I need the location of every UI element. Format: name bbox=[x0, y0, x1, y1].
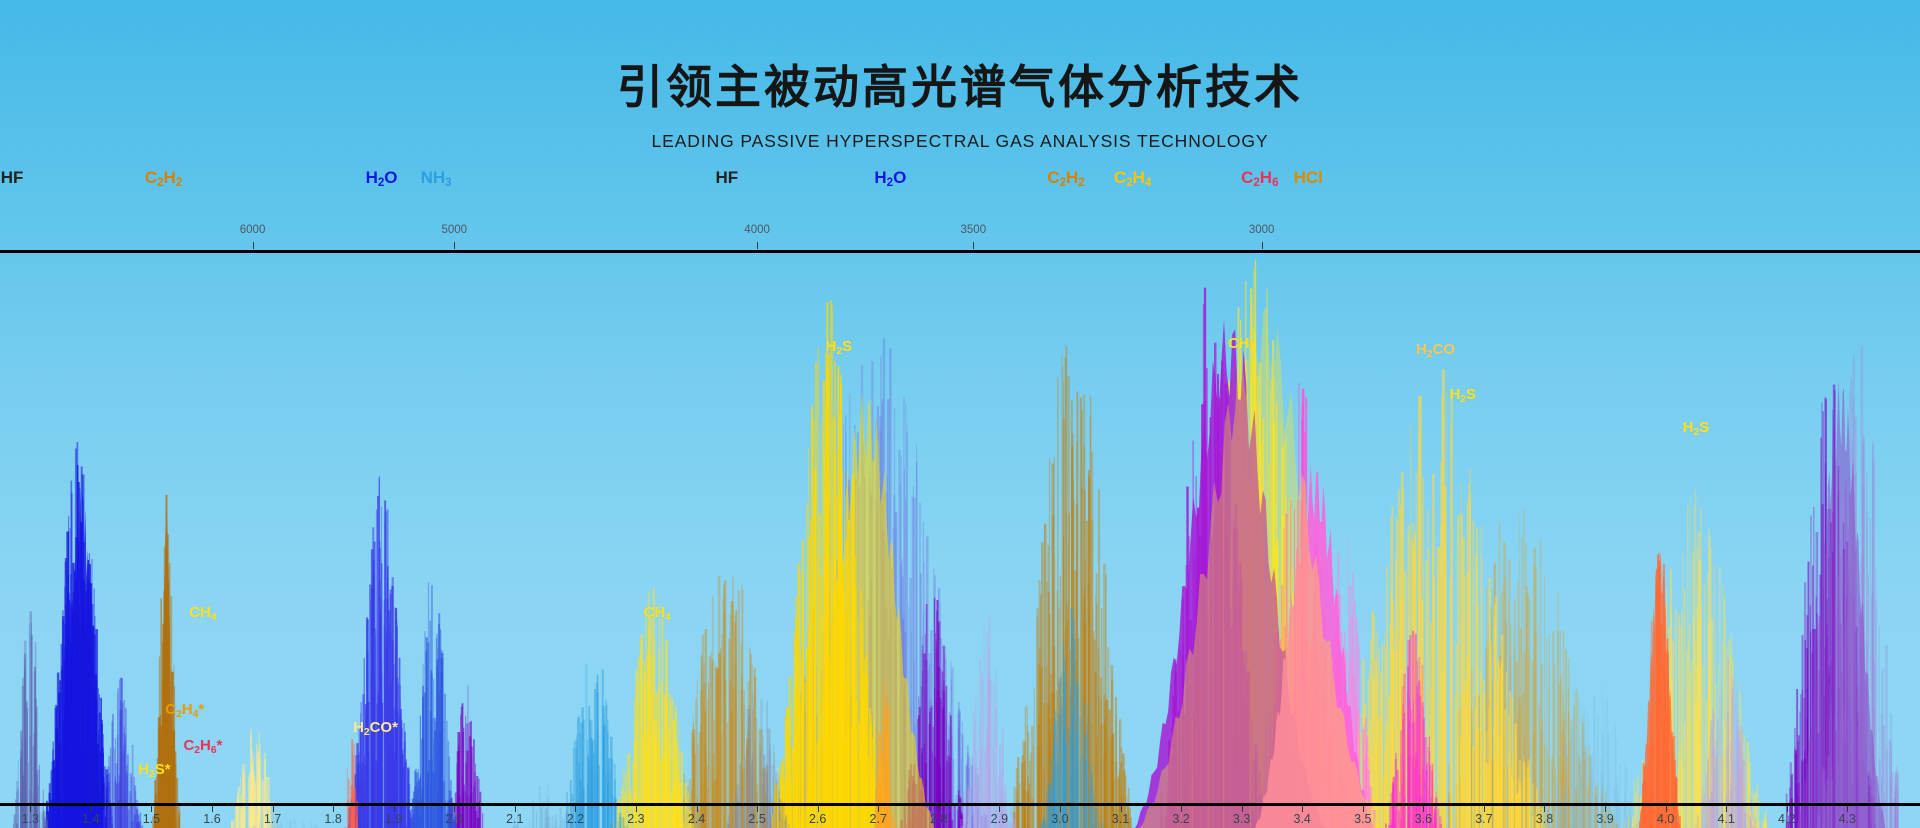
spectra-chart: 60005000400035003000HFC2H2H2ONH3HFH2OC2H… bbox=[0, 198, 1920, 828]
plot-gas-label-h2s: H2S bbox=[1683, 419, 1710, 436]
top-tick-label: 3500 bbox=[961, 224, 987, 236]
top-tick-mark bbox=[757, 242, 758, 249]
top-tick-label: 5000 bbox=[441, 224, 467, 236]
bottom-tick-label: 4.1 bbox=[1717, 812, 1734, 826]
bottom-tick-label: 1.8 bbox=[324, 812, 341, 826]
bottom-tick-label: 3.4 bbox=[1294, 812, 1311, 826]
plot-gas-label-c2h6: C2H6* bbox=[183, 737, 222, 754]
bottom-tick-label: 1.9 bbox=[385, 812, 402, 826]
bottom-tick-label: 2.0 bbox=[446, 812, 463, 826]
spectra-traces bbox=[0, 253, 1920, 828]
bottom-tick-label: 3.5 bbox=[1354, 812, 1371, 826]
bottom-tick-label: 2.8 bbox=[930, 812, 947, 826]
top-gas-label-c2h4: C2H4 bbox=[1114, 168, 1151, 188]
bottom-tick-label: 2.5 bbox=[748, 812, 765, 826]
top-gas-label-hf: HF bbox=[1, 168, 24, 188]
bottom-tick-label: 1.3 bbox=[22, 812, 39, 826]
plot-gas-label-h2s: H2S bbox=[826, 338, 853, 355]
plot-gas-label-c2h4: C2H4* bbox=[165, 701, 204, 718]
bottom-tick-label: 1.4 bbox=[82, 812, 99, 826]
plot-gas-label-h2co: H2CO bbox=[1416, 341, 1455, 358]
top-tick-label: 6000 bbox=[240, 224, 266, 236]
plot-gas-label-h2s: H2S* bbox=[138, 761, 170, 778]
bottom-tick-label: 3.9 bbox=[1596, 812, 1613, 826]
bottom-tick-label: 3.3 bbox=[1233, 812, 1250, 826]
top-gas-label-hcl: HCl bbox=[1294, 168, 1323, 188]
bottom-tick-label: 3.2 bbox=[1172, 812, 1189, 826]
top-axis-wavenumber: 60005000400035003000HFC2H2H2ONH3HFH2OC2H… bbox=[0, 198, 1920, 250]
bottom-tick-label: 2.2 bbox=[567, 812, 584, 826]
top-gas-label-c2h6: C2H6 bbox=[1241, 168, 1278, 188]
bottom-tick-label: 4.2 bbox=[1778, 812, 1795, 826]
bottom-tick-label: 2.1 bbox=[506, 812, 523, 826]
top-tick-label: 3000 bbox=[1249, 224, 1275, 236]
plot-gas-label-ch4: CH4 bbox=[643, 604, 670, 621]
top-tick-label: 4000 bbox=[744, 224, 770, 236]
bottom-tick-label: 2.4 bbox=[688, 812, 705, 826]
bottom-axis-wavelength: 1.31.41.51.61.71.81.92.02.12.22.32.42.52… bbox=[0, 806, 1920, 828]
top-gas-label-nh3: NH3 bbox=[421, 168, 452, 188]
top-tick-mark bbox=[973, 242, 974, 249]
bottom-tick-label: 1.6 bbox=[203, 812, 220, 826]
top-tick-mark bbox=[1262, 242, 1263, 249]
bottom-tick-label: 1.5 bbox=[143, 812, 160, 826]
top-gas-label-c2h2: C2H2 bbox=[145, 168, 182, 188]
plot-gas-label-h2co: H2CO* bbox=[353, 719, 398, 736]
bottom-tick-label: 3.6 bbox=[1415, 812, 1432, 826]
plot-area: CH4C2H4*C2H6*H2S*H2CO*CH4H2SCH4H2COH2SH2… bbox=[0, 253, 1920, 828]
bottom-tick-label: 4.0 bbox=[1657, 812, 1674, 826]
bottom-tick-label: 1.7 bbox=[264, 812, 281, 826]
top-gas-label-hf: HF bbox=[715, 168, 738, 188]
bottom-tick-label: 3.8 bbox=[1536, 812, 1553, 826]
top-gas-label-c2h2: C2H2 bbox=[1047, 168, 1084, 188]
bottom-tick-label: 2.3 bbox=[627, 812, 644, 826]
top-tick-mark bbox=[253, 242, 254, 249]
top-gas-label-h2o: H2O bbox=[874, 168, 906, 188]
page-subtitle: LEADING PASSIVE HYPERSPECTRAL GAS ANALYS… bbox=[0, 131, 1920, 152]
plot-gas-label-ch4: CH4 bbox=[189, 604, 216, 621]
bottom-tick-label: 2.9 bbox=[991, 812, 1008, 826]
bottom-tick-label: 3.1 bbox=[1112, 812, 1129, 826]
bottom-tick-label: 2.6 bbox=[809, 812, 826, 826]
top-gas-label-h2o: H2O bbox=[366, 168, 398, 188]
page-header: 引领主被动高光谱气体分析技术 LEADING PASSIVE HYPERSPEC… bbox=[0, 0, 1920, 198]
bottom-tick-label: 2.7 bbox=[870, 812, 887, 826]
bottom-tick-label: 4.3 bbox=[1839, 812, 1856, 826]
bottom-tick-label: 3.0 bbox=[1051, 812, 1068, 826]
top-tick-mark bbox=[454, 242, 455, 249]
plot-gas-label-h2s: H2S bbox=[1449, 386, 1476, 403]
plot-gas-label-ch4: CH4 bbox=[1228, 335, 1255, 352]
page-title: 引领主被动高光谱气体分析技术 bbox=[0, 62, 1920, 113]
bottom-tick-label: 3.7 bbox=[1475, 812, 1492, 826]
